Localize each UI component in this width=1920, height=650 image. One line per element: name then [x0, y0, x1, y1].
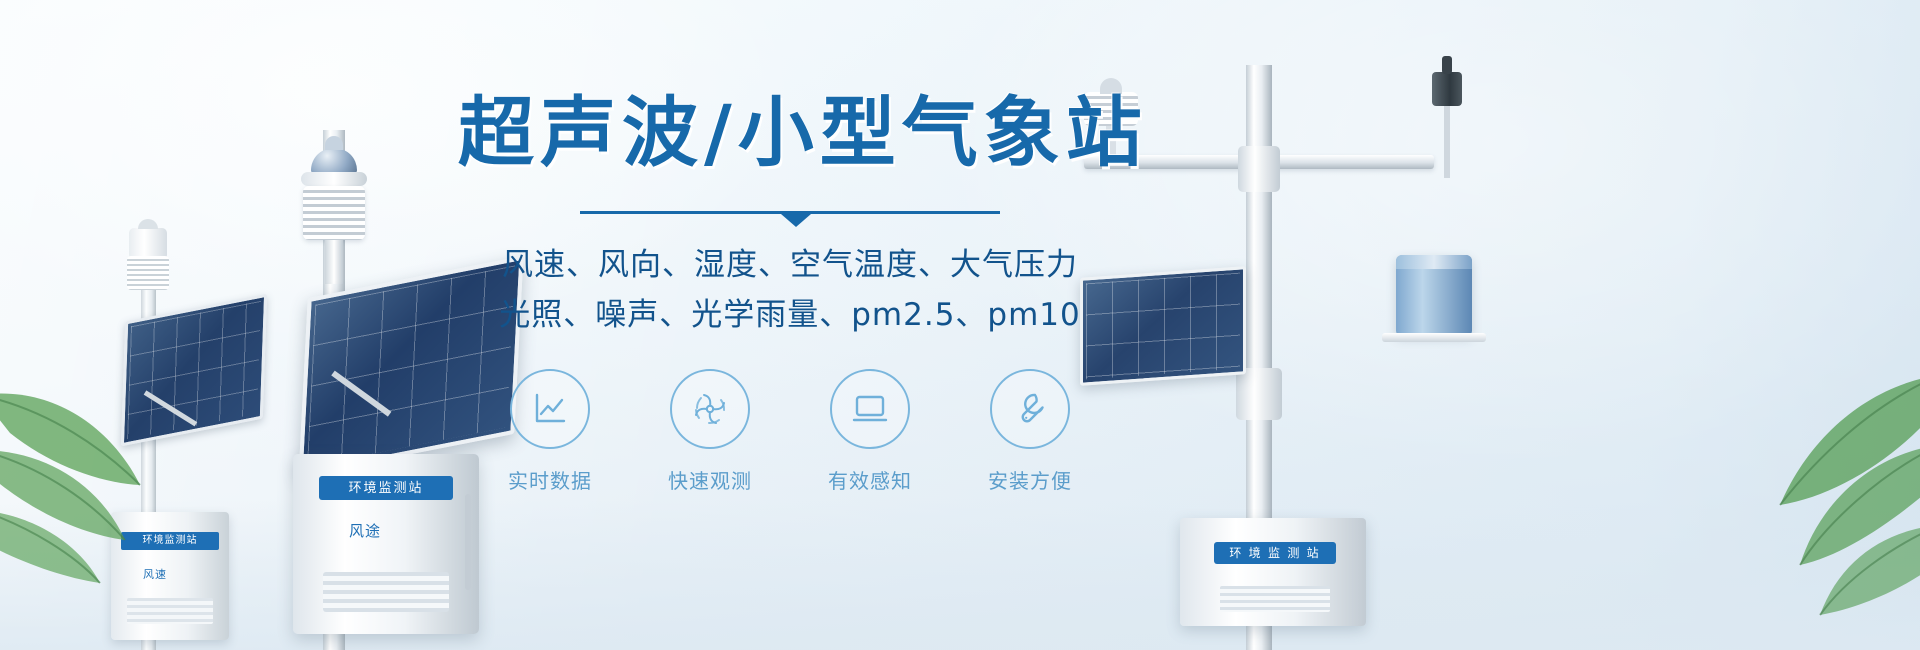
cabinet-vent — [323, 572, 449, 612]
wrench-icon — [1009, 388, 1051, 430]
title-divider — [580, 207, 1000, 219]
cabinet-vent — [127, 598, 213, 624]
feature-label: 实时数据 — [498, 465, 602, 494]
optical-rain-sensor-dome — [311, 148, 357, 174]
feature-icon-circle — [830, 369, 910, 449]
sensor-neck — [325, 240, 343, 284]
feature-item-realtime-data[interactable]: 实时数据 — [498, 369, 602, 494]
mast-joint-lower — [1236, 368, 1282, 420]
decorative-leaf-right — [1700, 365, 1920, 630]
cabinet-label: 环境监测站 — [121, 532, 219, 550]
feature-item-easy-install[interactable]: 安装方便 — [978, 369, 1082, 494]
banner-content: 超声波/小型气象站 风速、风向、湿度、空气温度、大气压力 光照、噪声、光学雨量、… — [450, 95, 1130, 494]
feature-icon-circle — [670, 369, 750, 449]
leaf-right-icon — [1700, 365, 1920, 625]
sensor-cap — [301, 172, 367, 186]
controller-cabinet: 环境监测站 风速 — [111, 512, 229, 640]
weather-station-small: 环境监测站 风速 — [105, 220, 285, 650]
monitor-icon — [849, 389, 891, 429]
subtitle-line-1: 风速、风向、湿度、空气温度、大气压力 — [450, 241, 1130, 289]
controller-cabinet: 环 境 监 测 站 — [1180, 518, 1366, 626]
subtitle-block: 风速、风向、湿度、空气温度、大气压力 光照、噪声、光学雨量、pm2.5、pm10 — [450, 241, 1130, 339]
feature-icon-circle — [990, 369, 1070, 449]
feature-icon-circle — [510, 369, 590, 449]
cabinet-label: 环境监测站 — [319, 476, 453, 500]
feature-list: 实时数据 — [450, 369, 1130, 494]
page-title: 超声波/小型气象站 — [458, 95, 1130, 171]
feature-item-fast-observation[interactable]: 快速观测 — [658, 369, 762, 494]
divider-triangle-icon — [781, 214, 811, 227]
gauge-shelf — [1382, 333, 1486, 342]
radiation-shield — [127, 256, 169, 290]
cabinet-brand-logo: 风途 — [349, 520, 381, 541]
cabinet-brand-logo: 风速 — [143, 566, 167, 582]
feature-label: 安装方便 — [978, 465, 1082, 494]
rain-gauge — [1396, 255, 1472, 335]
cabinet-hinge — [465, 494, 471, 590]
feature-item-effective-sensing[interactable]: 有效感知 — [818, 369, 922, 494]
mast-joint-upper — [1238, 146, 1280, 192]
radiation-shield — [303, 186, 365, 240]
ultrasonic-sensor-head — [129, 228, 167, 258]
cabinet-vent — [1220, 586, 1330, 612]
wind-vane-sensor — [1432, 72, 1462, 106]
product-banner: 环境监测站 风速 环境监测站 风途 环 境 监 测 站 — [0, 0, 1920, 650]
cabinet-label: 环 境 监 测 站 — [1214, 542, 1336, 564]
line-chart-icon — [530, 389, 570, 429]
radar-wind-icon — [689, 388, 731, 430]
subtitle-line-2: 光照、噪声、光学雨量、pm2.5、pm10 — [450, 291, 1130, 339]
feature-label: 有效感知 — [818, 465, 922, 494]
feature-label: 快速观测 — [658, 465, 762, 494]
